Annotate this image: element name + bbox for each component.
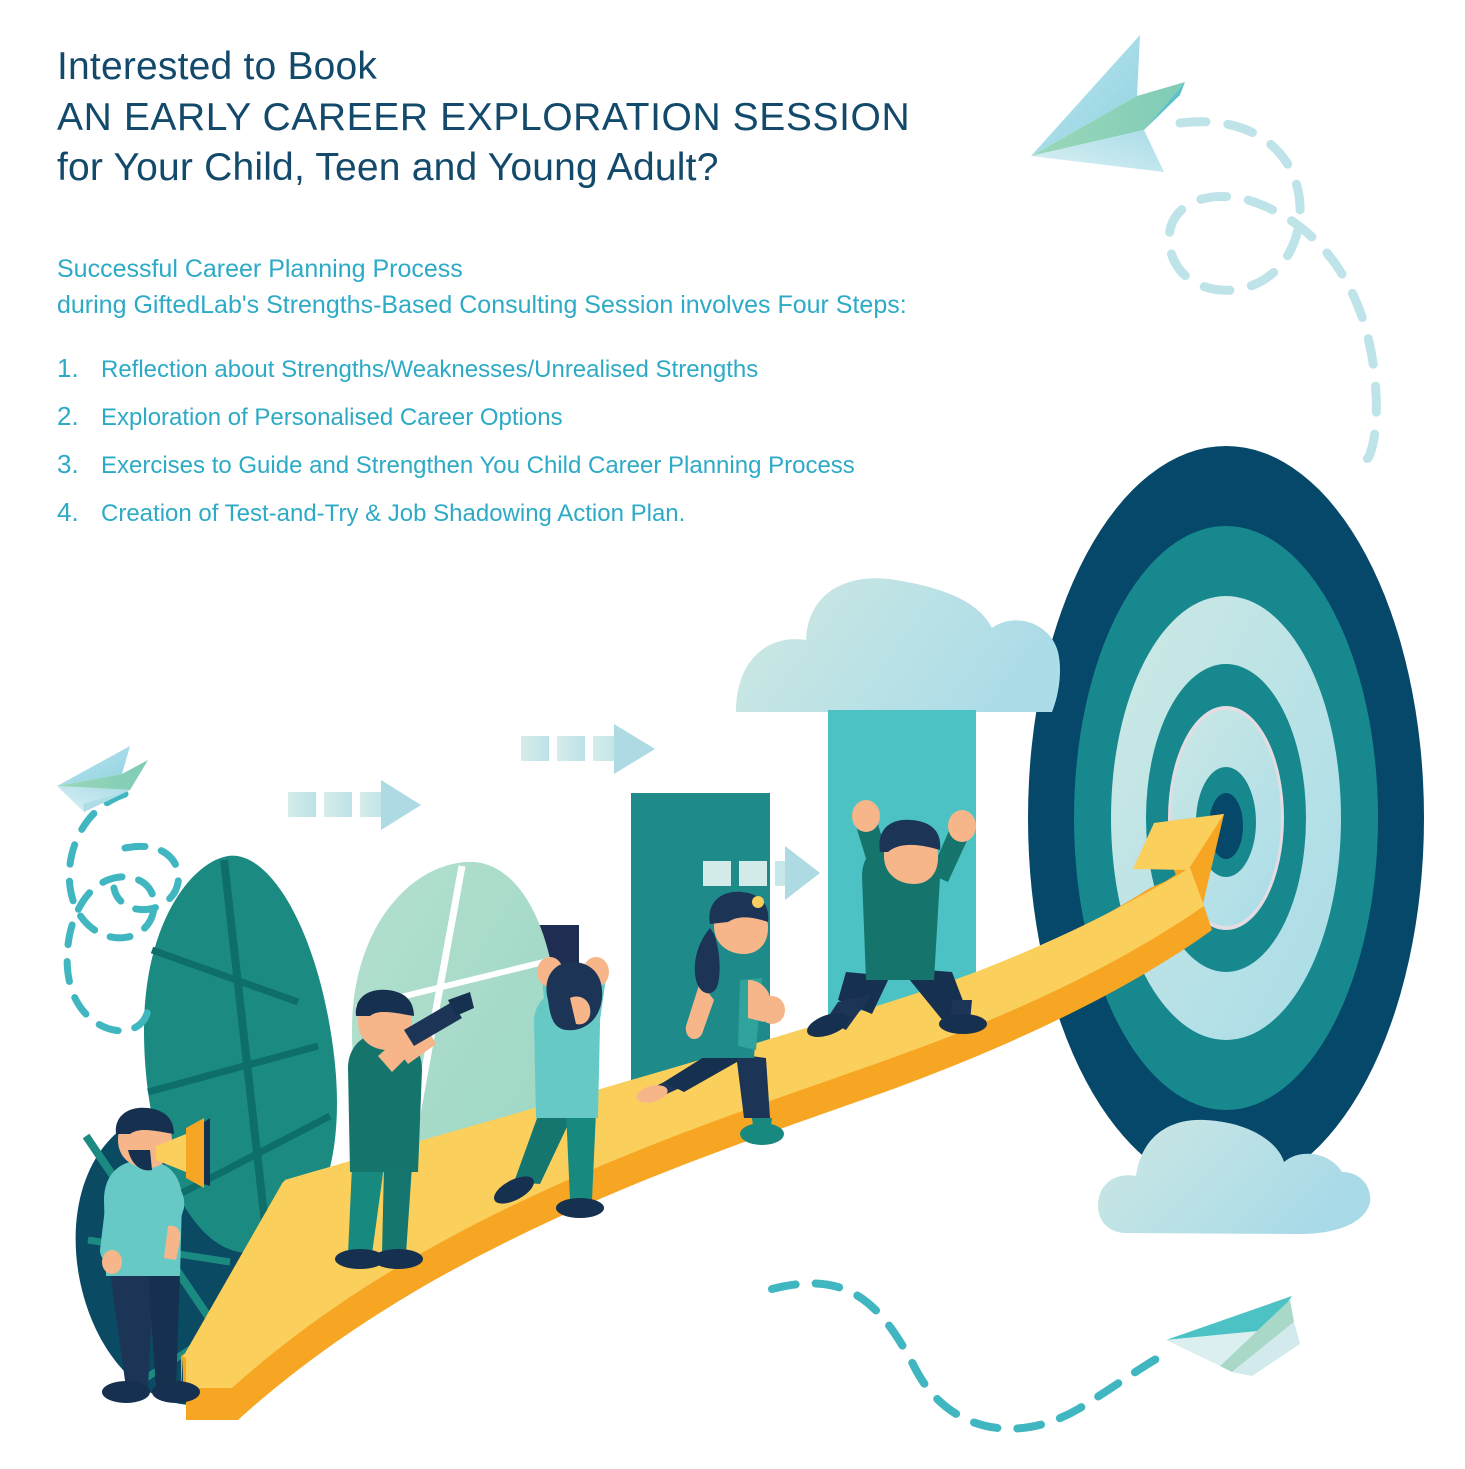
headline-line-3: for Your Child, Teen and Young Adult?	[57, 143, 997, 194]
paper-airplane-left	[57, 746, 148, 812]
poster-canvas: Interested to Book AN EARLY CAREER EXPLO…	[0, 0, 1465, 1469]
list-item: 1. Reflection about Strengths/Weaknesses…	[57, 353, 997, 384]
target-bullseye	[1028, 446, 1424, 1190]
text-content-block: Interested to Book AN EARLY CAREER EXPLO…	[57, 42, 997, 545]
steps-list: 1. Reflection about Strengths/Weaknesses…	[57, 353, 997, 528]
list-item: 3. Exercises to Guide and Strengthen You…	[57, 449, 997, 480]
progress-arrow-marker-1	[288, 780, 421, 830]
cloud-behind-bars	[736, 578, 1060, 712]
step-number: 3.	[57, 449, 101, 480]
intro-line-1: Successful Career Planning Process	[57, 252, 997, 288]
paper-airplane-top-right	[1031, 35, 1185, 172]
paper-airplane-bottom-right	[1166, 1296, 1300, 1376]
list-item: 2. Exploration of Personalised Career Op…	[57, 401, 997, 432]
step-text: Reflection about Strengths/Weaknesses/Un…	[101, 356, 997, 384]
progress-arrow-marker-2	[521, 724, 655, 774]
dashed-trail-bottom	[772, 1283, 1158, 1428]
list-item: 4. Creation of Test-and-Try & Job Shadow…	[57, 497, 997, 528]
step-text: Creation of Test-and-Try & Job Shadowing…	[101, 500, 997, 528]
dashed-trail-top-right	[1169, 122, 1376, 459]
step-text: Exercises to Guide and Strengthen You Ch…	[101, 452, 997, 480]
headline-line-1: Interested to Book	[57, 42, 997, 93]
intro-paragraph: Successful Career Planning Process durin…	[57, 252, 997, 323]
step-number: 4.	[57, 497, 101, 528]
step-number: 2.	[57, 401, 101, 432]
step-text: Exploration of Personalised Career Optio…	[101, 404, 997, 432]
headline: Interested to Book AN EARLY CAREER EXPLO…	[57, 42, 997, 194]
intro-line-2: during GiftedLab's Strengths-Based Consu…	[57, 288, 997, 324]
headline-line-2: AN EARLY CAREER EXPLORATION SESSION	[57, 93, 997, 144]
step-number: 1.	[57, 353, 101, 384]
